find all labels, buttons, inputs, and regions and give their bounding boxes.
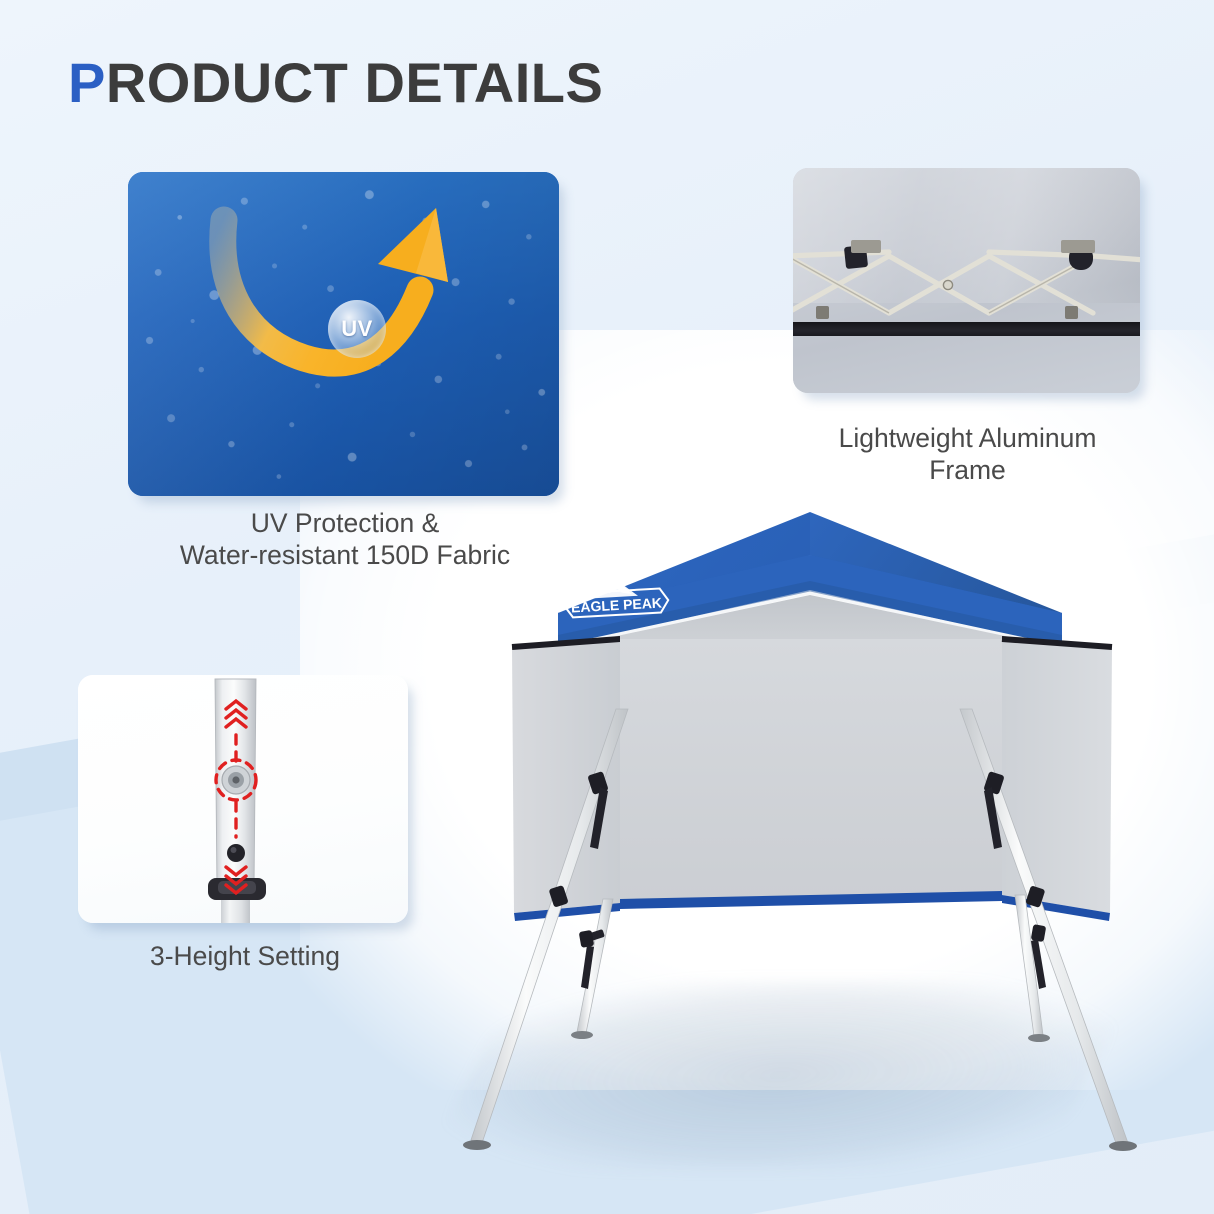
feature-caption-frame-line2: Frame (780, 454, 1155, 486)
page-title: PRODUCT DETAILS (68, 50, 603, 115)
page-title-rest: RODUCT DETAILS (106, 51, 604, 114)
brand-logo: EAGLE PEAK (547, 569, 685, 625)
mountain-peak-icon: EAGLE PEAK (547, 569, 685, 625)
canopy-feet (463, 1031, 1137, 1151)
infographic-stage: PRODUCT DETAILS UV UV Protection & (0, 0, 1214, 1214)
x-truss-frame-icon (793, 168, 1140, 393)
height-adjust-pole-icon (78, 675, 408, 923)
feature-image-height-setting (78, 675, 408, 923)
feature-caption-height-line1: 3-Height Setting (60, 940, 430, 972)
uv-badge: UV (328, 300, 386, 358)
feature-caption-aluminum-frame: Lightweight Aluminum Frame (780, 422, 1155, 487)
feature-caption-height-setting: 3-Height Setting (60, 940, 430, 972)
feature-caption-frame-line1: Lightweight Aluminum (780, 422, 1155, 454)
canopy-black-trim-band (793, 322, 1140, 336)
feature-image-uv-fabric: UV (128, 172, 559, 496)
uv-badge-label: UV (341, 316, 373, 342)
feature-image-aluminum-frame (793, 168, 1140, 393)
product-image-pop-up-canopy: EAGLE PEAK (440, 495, 1180, 1165)
page-title-accent-letter: P (68, 51, 106, 114)
